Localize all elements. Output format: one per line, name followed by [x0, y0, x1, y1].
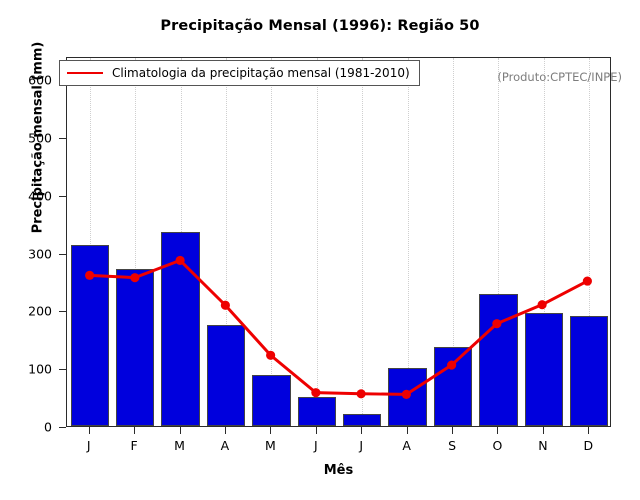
- y-tick-label-600: 600: [0, 73, 52, 88]
- x-tick-label-7: A: [387, 438, 427, 453]
- climatology-marker-a-7: [402, 390, 411, 399]
- y-tick-label-300: 300: [0, 246, 52, 261]
- climatology-marker-m-2: [176, 256, 185, 265]
- x-tick-mark-8: [452, 427, 453, 434]
- x-tick-mark-4: [270, 427, 271, 434]
- legend-line-swatch-climatology: [67, 72, 103, 74]
- x-tick-label-0: J: [69, 438, 109, 453]
- x-tick-label-9: O: [477, 438, 517, 453]
- climatology-marker-o-9: [492, 319, 501, 328]
- x-tick-label-10: N: [523, 438, 563, 453]
- x-tick-label-11: D: [568, 438, 608, 453]
- product-credit-annotation: (Produto:CPTEC/INPE): [497, 70, 622, 84]
- y-tick-label-100: 100: [0, 362, 52, 377]
- plot-area: [66, 57, 611, 427]
- x-tick-label-4: M: [250, 438, 290, 453]
- x-tick-mark-10: [543, 427, 544, 434]
- climatology-marker-d-11: [583, 277, 592, 286]
- x-axis-title: Mês: [66, 463, 611, 478]
- x-tick-mark-7: [407, 427, 408, 434]
- x-tick-label-5: J: [296, 438, 336, 453]
- chart-legend[interactable]: Climatologia da precipitação mensal (198…: [59, 60, 420, 86]
- climatology-marker-j-5: [311, 388, 320, 397]
- x-tick-label-1: F: [114, 438, 154, 453]
- x-tick-mark-5: [316, 427, 317, 434]
- climatology-polyline: [90, 260, 588, 394]
- chart-title: Precipitação Mensal (1996): Região 50: [0, 18, 640, 34]
- climatology-marker-j-6: [357, 389, 366, 398]
- x-tick-mark-11: [588, 427, 589, 434]
- y-tick-mark-400: [59, 196, 66, 197]
- y-tick-label-500: 500: [0, 130, 52, 145]
- x-tick-mark-9: [497, 427, 498, 434]
- climatology-marker-s-8: [447, 360, 456, 369]
- climatology-marker-m-4: [266, 351, 275, 360]
- y-tick-mark-200: [59, 311, 66, 312]
- x-tick-mark-2: [180, 427, 181, 434]
- y-tick-mark-100: [59, 369, 66, 370]
- x-tick-label-6: J: [341, 438, 381, 453]
- x-tick-mark-1: [134, 427, 135, 434]
- x-tick-label-3: A: [205, 438, 245, 453]
- x-tick-mark-0: [89, 427, 90, 434]
- x-tick-label-8: S: [432, 438, 472, 453]
- x-tick-mark-3: [225, 427, 226, 434]
- climatology-marker-j-0: [85, 271, 94, 280]
- plot-inner: [67, 58, 610, 426]
- y-tick-mark-0: [59, 427, 66, 428]
- y-tick-mark-500: [59, 138, 66, 139]
- climatology-line-series: [67, 58, 610, 426]
- y-tick-label-0: 0: [0, 420, 52, 435]
- legend-label-climatology: Climatologia da precipitação mensal (198…: [112, 66, 410, 80]
- x-tick-mark-6: [361, 427, 362, 434]
- climatology-marker-n-10: [538, 300, 547, 309]
- x-tick-label-2: M: [160, 438, 200, 453]
- y-tick-mark-300: [59, 254, 66, 255]
- y-tick-label-400: 400: [0, 188, 52, 203]
- chart-canvas: Precipitação Mensal (1996): Região 50 Pr…: [0, 0, 640, 500]
- climatology-marker-a-3: [221, 301, 230, 310]
- climatology-marker-f-1: [130, 273, 139, 282]
- y-tick-label-200: 200: [0, 304, 52, 319]
